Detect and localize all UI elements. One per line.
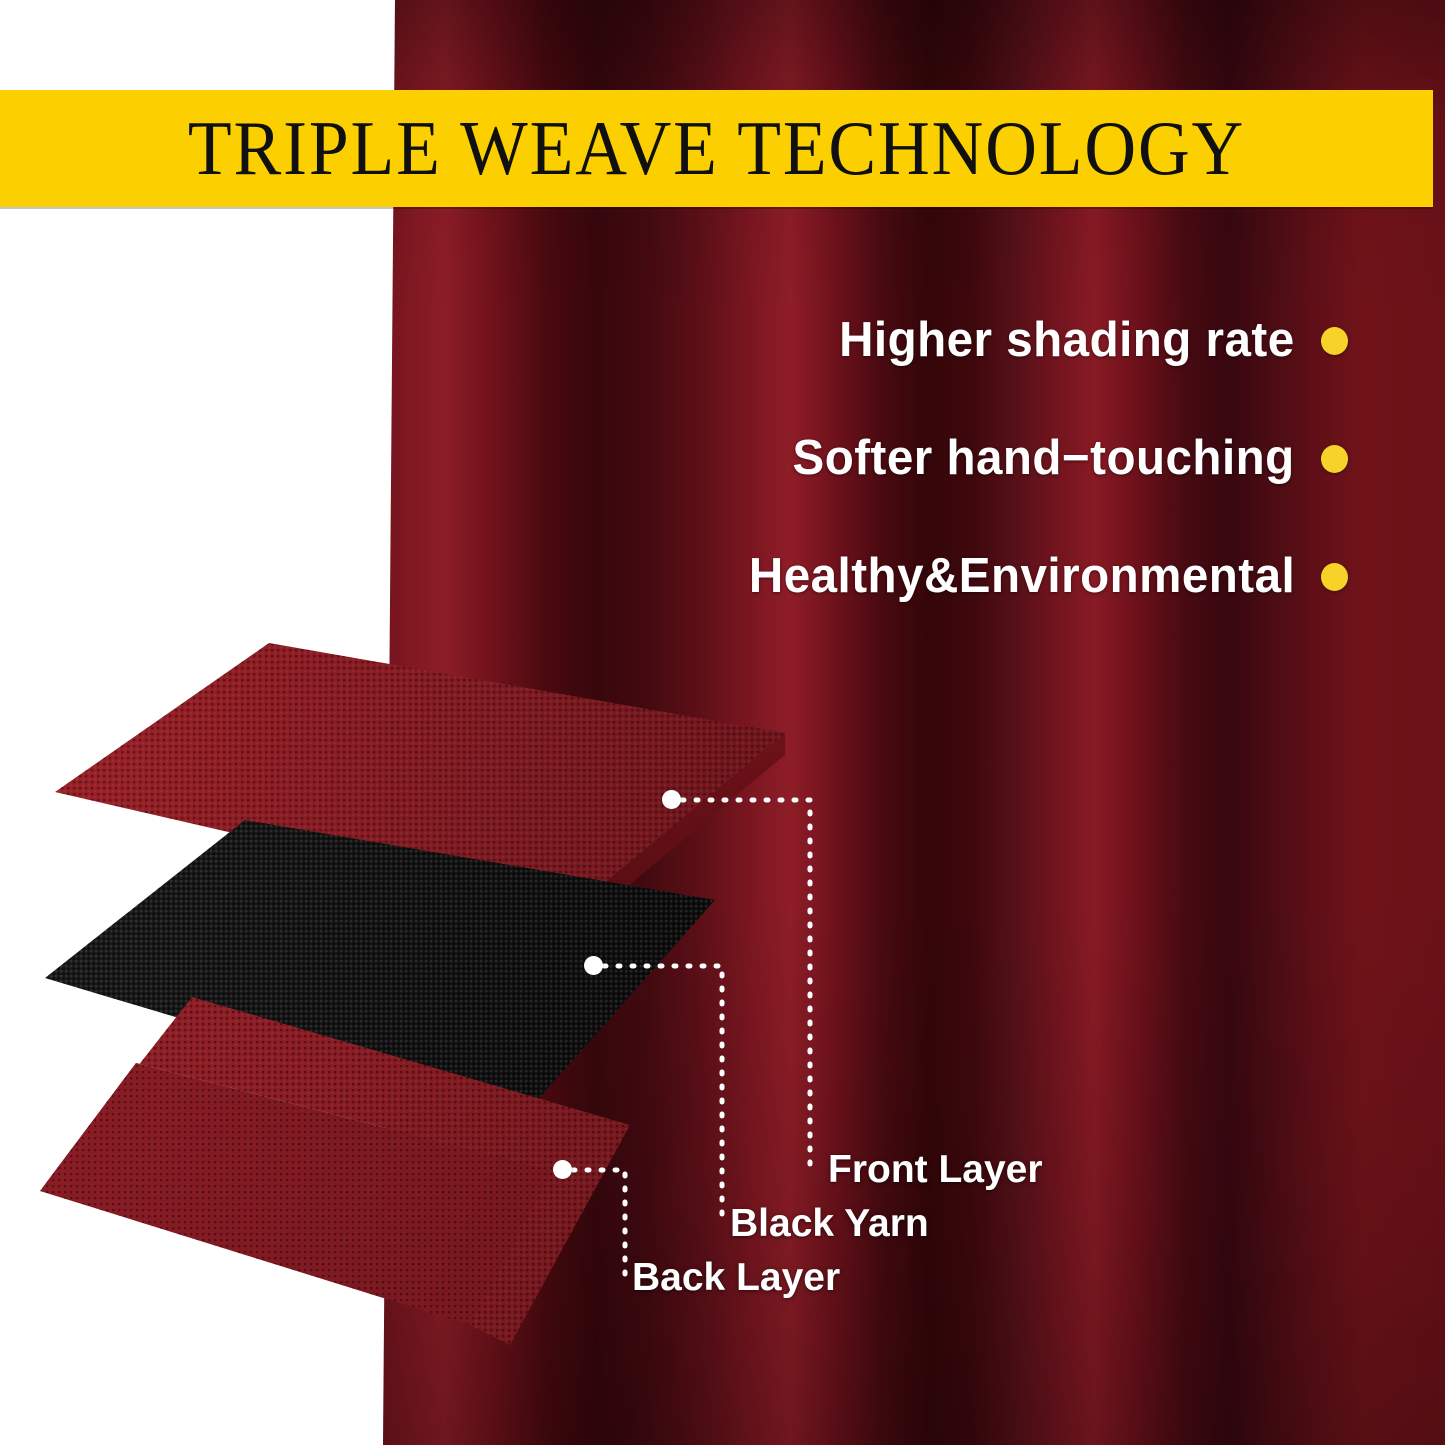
layer-label-black-yarn: Black Yarn [730,1204,929,1243]
product-feature-image: TRIPLE WEAVE TECHNOLOGY Higher shading r… [0,0,1445,1445]
leader-endpoint-back-layer [553,1160,572,1179]
layer-label-front: Front Layer [828,1150,1043,1189]
leader-lines [0,0,1445,1445]
leader-line-black-yarn [604,966,722,1222]
leader-line-front-layer [682,800,810,1168]
leader-endpoint-front-layer [662,790,681,809]
leader-endpoint-black-yarn [584,956,603,975]
layer-label-back: Back Layer [632,1258,840,1297]
leader-line-back-layer [573,1170,625,1276]
